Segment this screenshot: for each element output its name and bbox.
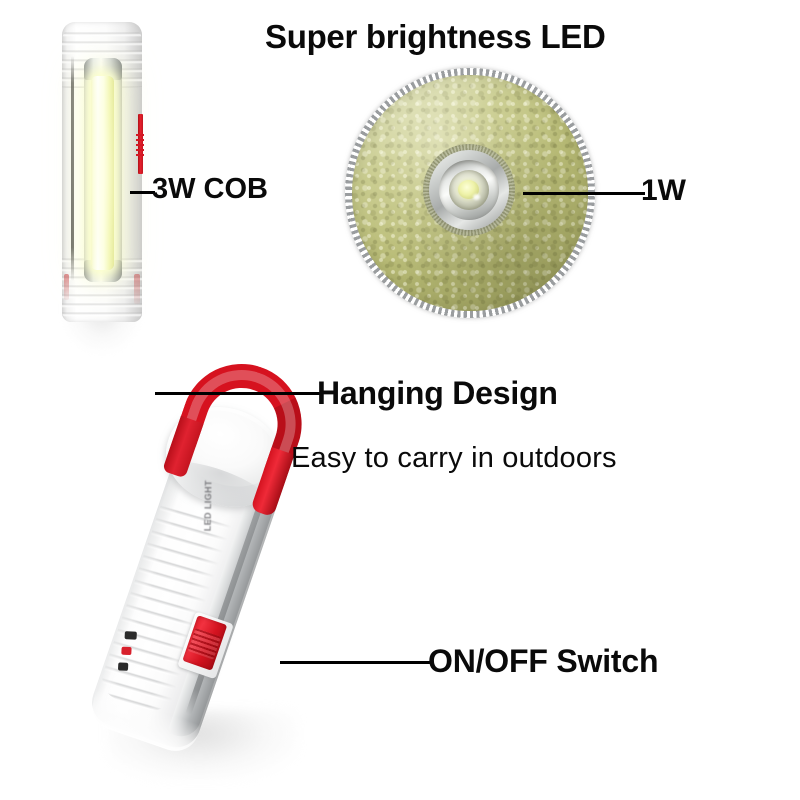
base-accent-right <box>134 274 140 304</box>
callout-label-onoff-switch: ON/OFF Switch <box>428 645 658 677</box>
led-specular-highlight <box>473 194 480 200</box>
leader-line-hanging <box>155 392 320 395</box>
subtitle-easy-carry: Easy to carry in outdoors <box>291 444 617 473</box>
callout-label-cob: 3W COB <box>152 175 268 204</box>
infographic-canvas: Super brightness LED 3W COB <box>0 0 800 800</box>
callout-label-1w: 1W <box>641 176 686 206</box>
body-marking-dark-lower <box>118 662 128 671</box>
product-image-hand-lamp: LED LIGHT <box>56 358 356 790</box>
side-switch-ribs <box>136 134 144 156</box>
callout-label-hanging-design: Hanging Design <box>317 377 558 409</box>
product-side-marking: LED LIGHT <box>203 435 215 531</box>
cob-led-strip <box>91 76 114 270</box>
body-marking-red <box>121 647 131 656</box>
page-title: Super brightness LED <box>265 20 606 53</box>
body-marking-dark-upper <box>125 631 137 640</box>
base-accent-left <box>64 274 69 300</box>
body-seam <box>71 56 74 281</box>
product-image-cob-work-light <box>58 22 146 342</box>
leader-line-switch <box>280 661 430 664</box>
leader-line-1w <box>523 192 645 195</box>
